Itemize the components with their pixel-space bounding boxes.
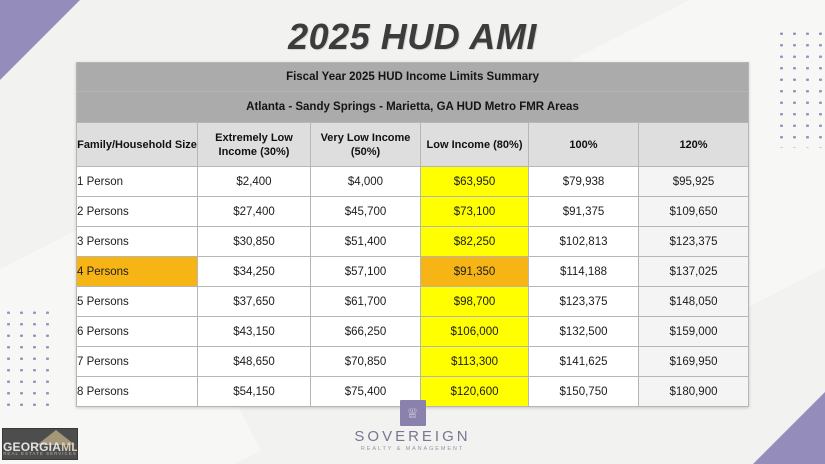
table-band-subtitle: Atlanta - Sandy Springs - Marietta, GA H… bbox=[77, 92, 749, 123]
cell-120: $95,925 bbox=[639, 167, 749, 197]
cell-vli: $70,850 bbox=[311, 347, 421, 377]
cell-vli: $51,400 bbox=[311, 227, 421, 257]
georgia-mls-subtitle: REAL ESTATE SERVICES bbox=[3, 451, 77, 456]
georgia-mls-logo: GEORGIAMLS REAL ESTATE SERVICES bbox=[2, 428, 78, 460]
cell-120: $169,950 bbox=[639, 347, 749, 377]
cell-eli: $34,250 bbox=[198, 257, 311, 287]
table-row-highlighted: 4 Persons $34,250 $57,100 $91,350 $114,1… bbox=[77, 257, 749, 287]
cell-100: $123,375 bbox=[529, 287, 639, 317]
cell-eli: $43,150 bbox=[198, 317, 311, 347]
column-header-extremely-low-income: Extremely Low Income (30%) bbox=[198, 123, 311, 167]
cell-eli: $48,650 bbox=[198, 347, 311, 377]
cell-size: 2 Persons bbox=[77, 197, 198, 227]
cell-eli: $2,400 bbox=[198, 167, 311, 197]
income-limits-table-container: Fiscal Year 2025 HUD Income Limits Summa… bbox=[76, 62, 748, 407]
cell-100: $102,813 bbox=[529, 227, 639, 257]
cell-120: $123,375 bbox=[639, 227, 749, 257]
table-band-title: Fiscal Year 2025 HUD Income Limits Summa… bbox=[77, 63, 749, 92]
cell-eli: $30,850 bbox=[198, 227, 311, 257]
table-row: 2 Persons $27,400 $45,700 $73,100 $91,37… bbox=[77, 197, 749, 227]
crown-glyph: ♕ bbox=[406, 406, 419, 420]
sovereign-logo: ♕ SOVEREIGN REALTY & MANAGEMENT bbox=[0, 400, 825, 452]
table-band-title-row: Fiscal Year 2025 HUD Income Limits Summa… bbox=[77, 63, 749, 92]
decorative-dot-grid-bottom-left bbox=[0, 305, 53, 415]
column-header-very-low-income: Very Low Income (50%) bbox=[311, 123, 421, 167]
cell-100: $141,625 bbox=[529, 347, 639, 377]
cell-li: $82,250 bbox=[421, 227, 529, 257]
cell-vli: $61,700 bbox=[311, 287, 421, 317]
cell-size: 4 Persons bbox=[77, 257, 198, 287]
cell-li: $106,000 bbox=[421, 317, 529, 347]
cell-size: 3 Persons bbox=[77, 227, 198, 257]
cell-120: $148,050 bbox=[639, 287, 749, 317]
cell-li: $113,300 bbox=[421, 347, 529, 377]
cell-size: 5 Persons bbox=[77, 287, 198, 317]
cell-120: $159,000 bbox=[639, 317, 749, 347]
cell-eli: $37,650 bbox=[198, 287, 311, 317]
income-limits-table: Fiscal Year 2025 HUD Income Limits Summa… bbox=[76, 62, 749, 407]
cell-size: 1 Person bbox=[77, 167, 198, 197]
table-band-subtitle-row: Atlanta - Sandy Springs - Marietta, GA H… bbox=[77, 92, 749, 123]
sovereign-logo-subtitle: REALTY & MANAGEMENT bbox=[0, 446, 825, 452]
page-title: 2025 HUD AMI bbox=[0, 16, 825, 58]
sovereign-logo-name: SOVEREIGN bbox=[0, 428, 825, 445]
cell-vli: $4,000 bbox=[311, 167, 421, 197]
cell-100: $91,375 bbox=[529, 197, 639, 227]
cell-li: $98,700 bbox=[421, 287, 529, 317]
cell-li: $91,350 bbox=[421, 257, 529, 287]
slide-canvas: 2025 HUD AMI Fiscal Year 2025 HUD Income… bbox=[0, 0, 825, 464]
column-header-size: Family/Household Size bbox=[77, 123, 198, 167]
cell-100: $114,188 bbox=[529, 257, 639, 287]
column-header-100-percent: 100% bbox=[529, 123, 639, 167]
table-row: 7 Persons $48,650 $70,850 $113,300 $141,… bbox=[77, 347, 749, 377]
cell-li: $63,950 bbox=[421, 167, 529, 197]
cell-vli: $66,250 bbox=[311, 317, 421, 347]
cell-eli: $27,400 bbox=[198, 197, 311, 227]
cell-120: $137,025 bbox=[639, 257, 749, 287]
table-row: 5 Persons $37,650 $61,700 $98,700 $123,3… bbox=[77, 287, 749, 317]
table-row: 6 Persons $43,150 $66,250 $106,000 $132,… bbox=[77, 317, 749, 347]
cell-100: $132,500 bbox=[529, 317, 639, 347]
table-row: 3 Persons $30,850 $51,400 $82,250 $102,8… bbox=[77, 227, 749, 257]
column-header-low-income: Low Income (80%) bbox=[421, 123, 529, 167]
table-header-row: Family/Household Size Extremely Low Inco… bbox=[77, 123, 749, 167]
cell-100: $79,938 bbox=[529, 167, 639, 197]
crown-icon: ♕ bbox=[400, 400, 426, 426]
cell-vli: $45,700 bbox=[311, 197, 421, 227]
cell-li: $73,100 bbox=[421, 197, 529, 227]
table-row: 1 Person $2,400 $4,000 $63,950 $79,938 $… bbox=[77, 167, 749, 197]
cell-size: 6 Persons bbox=[77, 317, 198, 347]
cell-size: 7 Persons bbox=[77, 347, 198, 377]
cell-vli: $57,100 bbox=[311, 257, 421, 287]
cell-120: $109,650 bbox=[639, 197, 749, 227]
column-header-120-percent: 120% bbox=[639, 123, 749, 167]
